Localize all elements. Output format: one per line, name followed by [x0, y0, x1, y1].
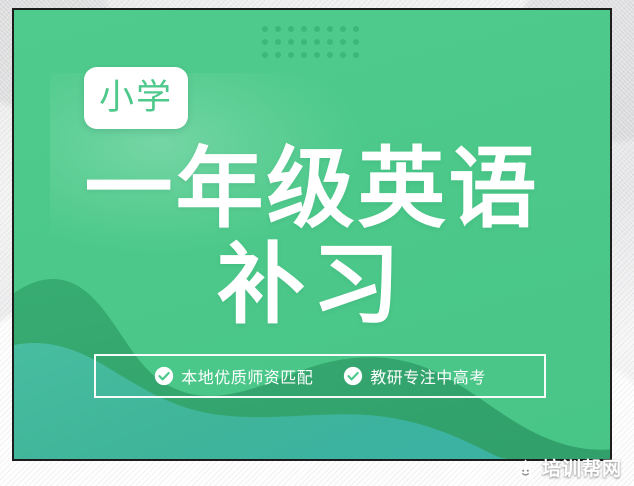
grid-dot [327, 26, 333, 32]
grid-dot [327, 39, 333, 45]
grid-dot [327, 52, 333, 58]
page-title: 一年级英语 补习 [14, 141, 610, 333]
level-badge-label: 小学 [99, 81, 173, 116]
grid-dot [262, 52, 268, 58]
grid-dot [288, 39, 294, 45]
grid-dot [353, 26, 359, 32]
grid-dot [314, 39, 320, 45]
feature-strip: 本地优质师资匹配 教研专注中高考 [94, 354, 546, 398]
feature-item-1: 本地优质师资匹配 [154, 364, 313, 388]
grid-dot [275, 39, 281, 45]
grid-dot [340, 39, 346, 45]
grid-dot [262, 39, 268, 45]
level-badge: 小学 [84, 67, 188, 129]
feature-label-2: 教研专注中高考 [370, 364, 486, 388]
grid-dot [288, 52, 294, 58]
headline-line-1: 一年级英语 [14, 141, 610, 237]
grid-dot [314, 52, 320, 58]
grid-dot [288, 26, 294, 32]
grid-dot [275, 26, 281, 32]
watermark-text: 培训帮网 [542, 460, 622, 479]
check-circle-icon [154, 366, 174, 386]
grid-dot [353, 39, 359, 45]
grid-dot [301, 39, 307, 45]
poster-root: 小学 一年级英语 补习 本地优质师资匹配 教研专注中高考 [0, 0, 634, 486]
grid-dot [301, 26, 307, 32]
grid-dot [340, 26, 346, 32]
watermark: 培训帮网 [509, 457, 628, 482]
grid-dot [275, 52, 281, 58]
feature-label-1: 本地优质师资匹配 [181, 364, 313, 388]
dot-grid-decoration [262, 26, 366, 65]
grid-dot [262, 26, 268, 32]
feature-item-2: 教研专注中高考 [343, 364, 486, 388]
headline-line-2: 补习 [14, 237, 610, 333]
check-circle-icon [343, 366, 363, 386]
smiley-sun-icon [515, 459, 536, 480]
grid-dot [340, 52, 346, 58]
grid-dot [353, 52, 359, 58]
promo-card: 小学 一年级英语 补习 本地优质师资匹配 教研专注中高考 [12, 8, 612, 461]
grid-dot [314, 26, 320, 32]
grid-dot [301, 52, 307, 58]
